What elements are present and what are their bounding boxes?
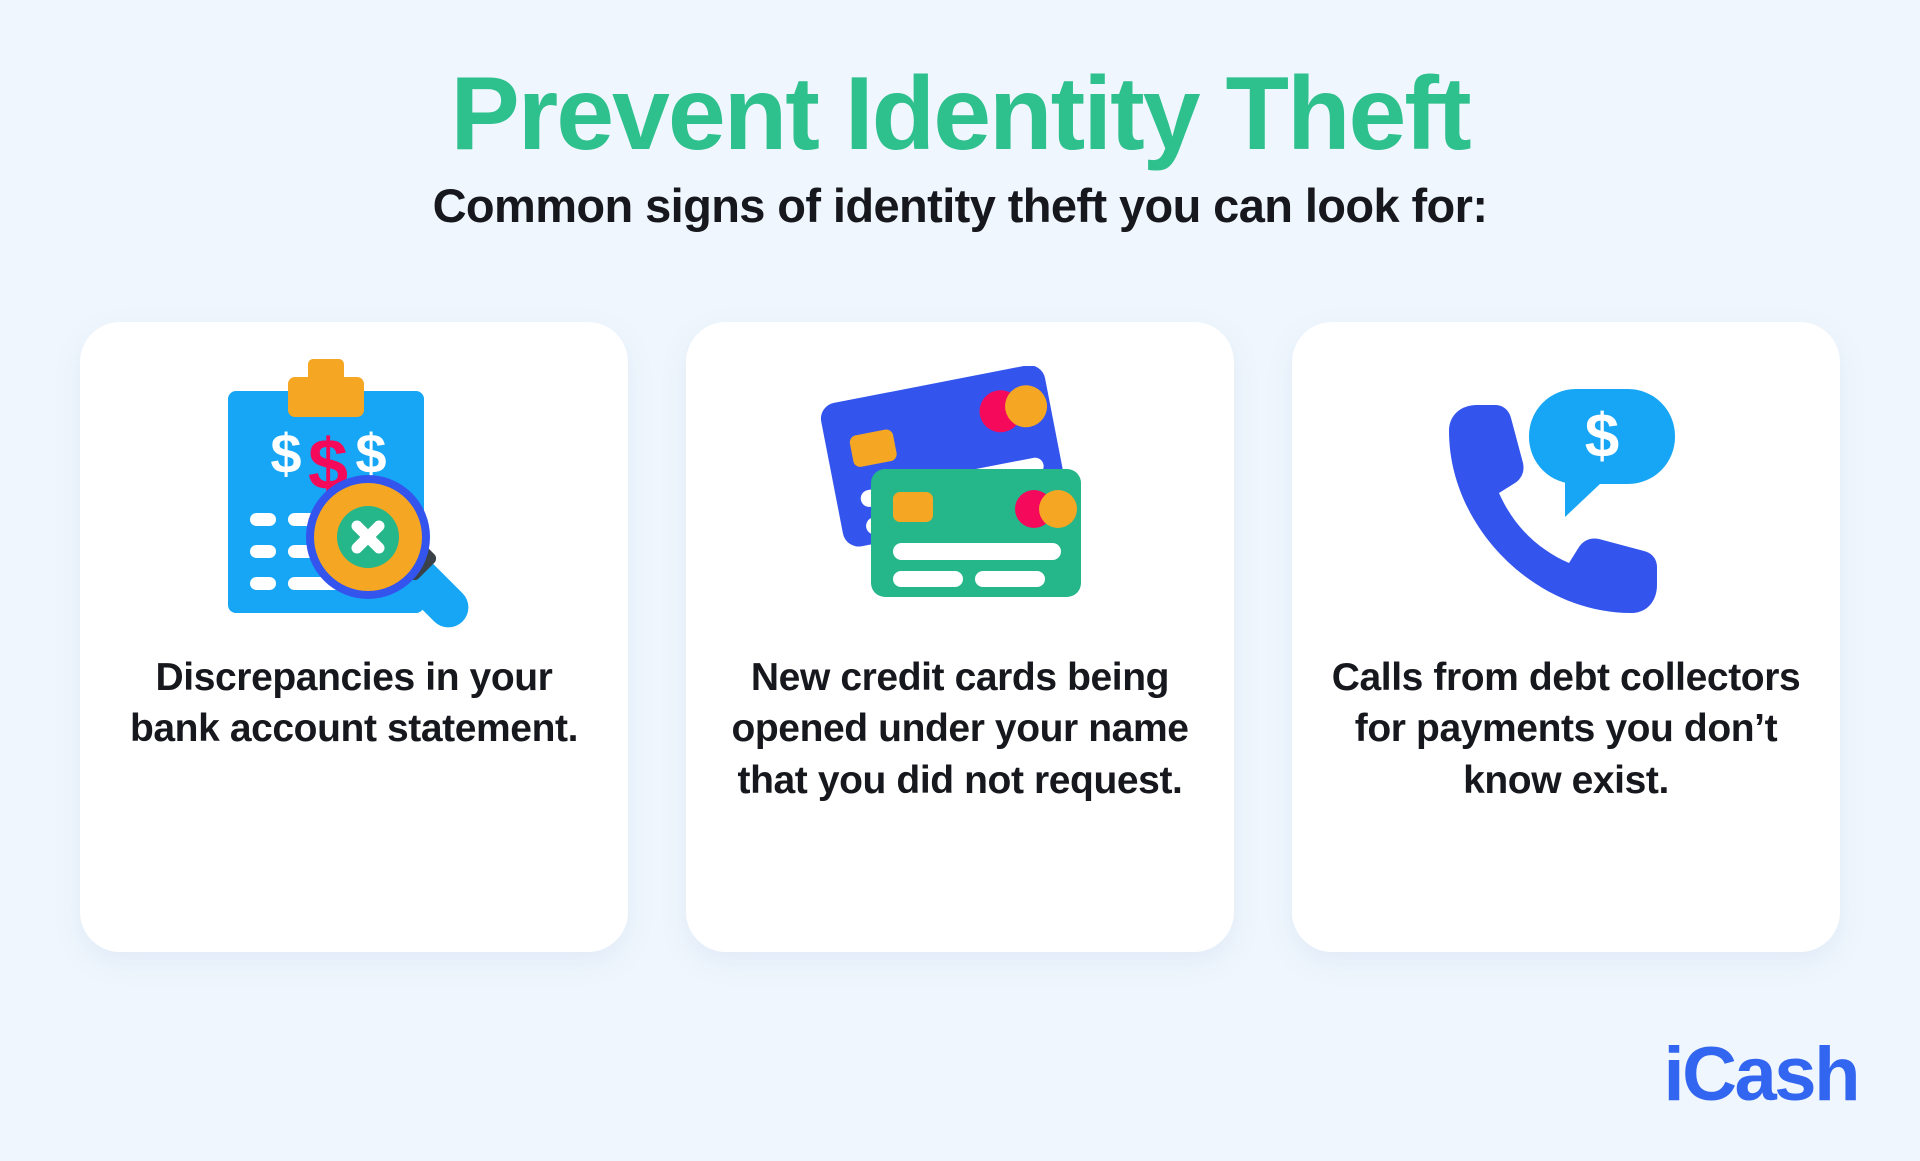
cards-row: $ $ $ (80, 322, 1840, 952)
x-mark-icon (357, 526, 379, 548)
credit-cards-icon (815, 366, 1105, 626)
clipboard-statement-magnifier-icon: $ $ $ (204, 351, 504, 641)
brand-logo: iCash (1664, 1037, 1858, 1113)
card-debt-collector-calls: $ Calls from debt collectors for payment… (1292, 322, 1840, 952)
dollar-sign-white-left: $ (270, 422, 301, 485)
page-subtitle: Common signs of identity theft you can l… (0, 178, 1920, 234)
page-title: Prevent Identity Theft (0, 58, 1920, 170)
icon-wrap-3: $ (1292, 322, 1840, 652)
icon-wrap-1: $ $ $ (80, 322, 628, 652)
card-bank-statement: $ $ $ (80, 322, 628, 952)
card-text-2: New credit cards being opened under your… (686, 652, 1234, 806)
icon-wrap-2 (686, 322, 1234, 652)
card-text-1: Discrepancies in your bank account state… (80, 652, 628, 755)
phone-call-money-icon: $ (1431, 371, 1701, 621)
card-new-credit-cards: New credit cards being opened under your… (686, 322, 1234, 952)
dollar-sign-bubble: $ (1585, 402, 1619, 471)
card-text-3: Calls from debt collectors for payments … (1292, 652, 1840, 806)
header: Prevent Identity Theft Common signs of i… (0, 58, 1920, 235)
infographic-root: Prevent Identity Theft Common signs of i… (0, 0, 1920, 1161)
